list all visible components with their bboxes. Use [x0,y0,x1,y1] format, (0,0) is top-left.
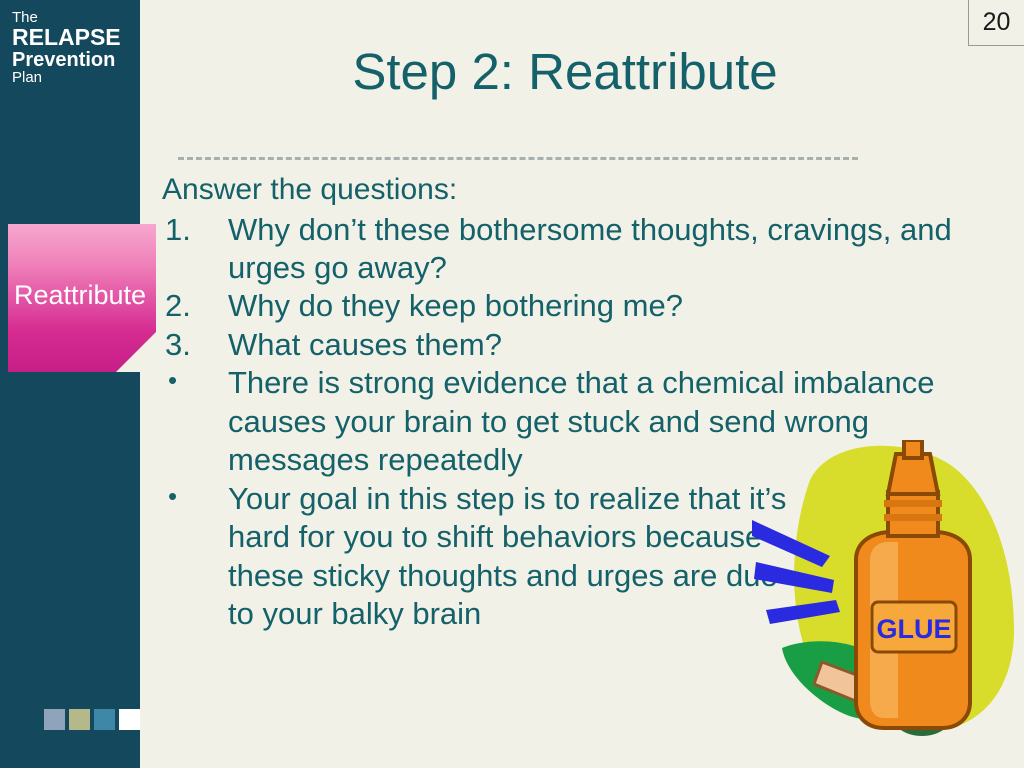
slide: The RELAPSE Prevention Plan Reattribute … [0,0,1024,768]
page-title: Step 2: Reattribute [160,42,970,101]
sidebar [0,0,144,768]
list-marker: 1. [160,211,228,288]
list-item-text: Why do they keep bothering me? [228,287,683,325]
glue-label: GLUE [876,614,951,644]
list-marker: • [160,364,228,479]
page-number: 20 [968,0,1024,46]
sticky-note-label: Reattribute [8,280,164,311]
list-item: 2. Why do they keep bothering me? [160,287,1015,325]
glue-bottle-illustration: GLUE [752,440,1024,750]
lead-text: Answer the questions: [162,172,1015,209]
square-1 [44,709,65,730]
list-marker: • [160,480,228,634]
list-item: 1. Why don’t these bothersome thoughts, … [160,211,1015,288]
brand-logo: The RELAPSE Prevention Plan [12,10,137,86]
divider-dashed [178,157,858,160]
decorative-squares [44,709,140,730]
square-3 [94,709,115,730]
list-item-text: What causes them? [228,326,502,364]
logo-line-prevention: Prevention [12,50,137,71]
list-item: 3. What causes them? [160,326,1015,364]
logo-line-relapse: RELAPSE [12,26,137,50]
list-item-text: Your goal in this step is to realize tha… [228,480,788,634]
sticky-note-tab: Reattribute [8,224,156,372]
sticky-note-fold-corner [116,332,156,372]
list-marker: 3. [160,326,228,364]
list-item-text: Why don’t these bothersome thoughts, cra… [228,211,1015,288]
logo-line-plan: Plan [12,70,137,86]
square-2 [69,709,90,730]
sidebar-accent-stripe [140,0,145,768]
list-marker: 2. [160,287,228,325]
square-4 [119,709,140,730]
